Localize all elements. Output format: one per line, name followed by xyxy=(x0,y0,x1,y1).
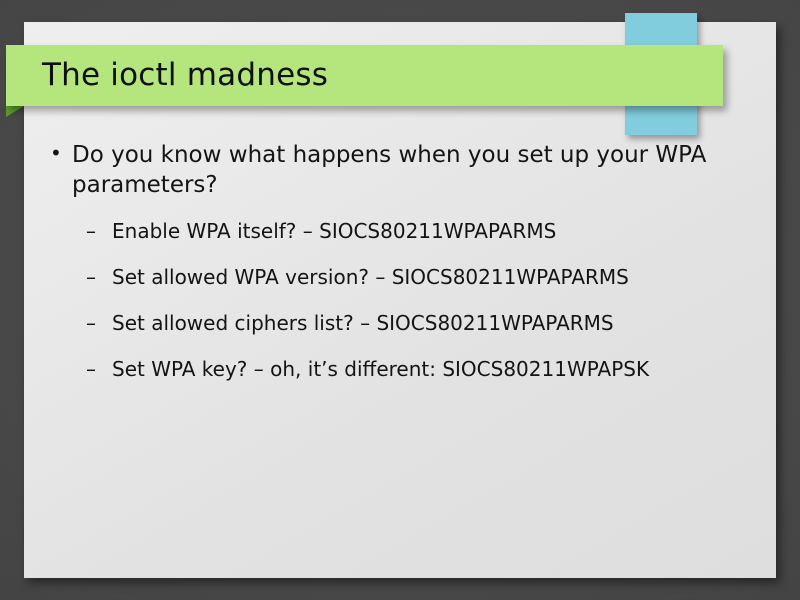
bullet-dash-icon: – xyxy=(86,265,96,290)
bullet-level2-text: Set allowed ciphers list? – SIOCS80211WP… xyxy=(112,311,614,335)
bullet-level2-text: Set allowed WPA version? – SIOCS80211WPA… xyxy=(112,265,629,289)
title-banner-fold-decoration xyxy=(6,106,24,117)
list-item: – Set allowed ciphers list? – SIOCS80211… xyxy=(24,311,776,336)
bullet-dash-icon: – xyxy=(86,357,96,382)
list-item: – Set allowed WPA version? – SIOCS80211W… xyxy=(24,265,776,290)
slide-frame: The ioctl madness • Do you know what hap… xyxy=(0,0,800,600)
bullet-level2-text: Set WPA key? – oh, it’s different: SIOCS… xyxy=(112,357,649,381)
bullet-level2-text: Enable WPA itself? – SIOCS80211WPAPARMS xyxy=(112,219,556,243)
list-item: – Enable WPA itself? – SIOCS80211WPAPARM… xyxy=(24,219,776,244)
bullet-dot-icon: • xyxy=(50,140,62,167)
bullet-dash-icon: – xyxy=(86,219,96,244)
slide-body: • Do you know what happens when you set … xyxy=(24,140,776,403)
bullet-dash-icon: – xyxy=(86,311,96,336)
sub-bullet-list: – Enable WPA itself? – SIOCS80211WPAPARM… xyxy=(24,219,776,382)
bullet-level1: • Do you know what happens when you set … xyxy=(24,140,776,201)
title-banner: The ioctl madness xyxy=(6,45,723,106)
list-item: – Set WPA key? – oh, it’s different: SIO… xyxy=(24,357,776,382)
slide-title: The ioctl madness xyxy=(42,60,328,91)
bullet-level1-text: Do you know what happens when you set up… xyxy=(72,142,706,198)
